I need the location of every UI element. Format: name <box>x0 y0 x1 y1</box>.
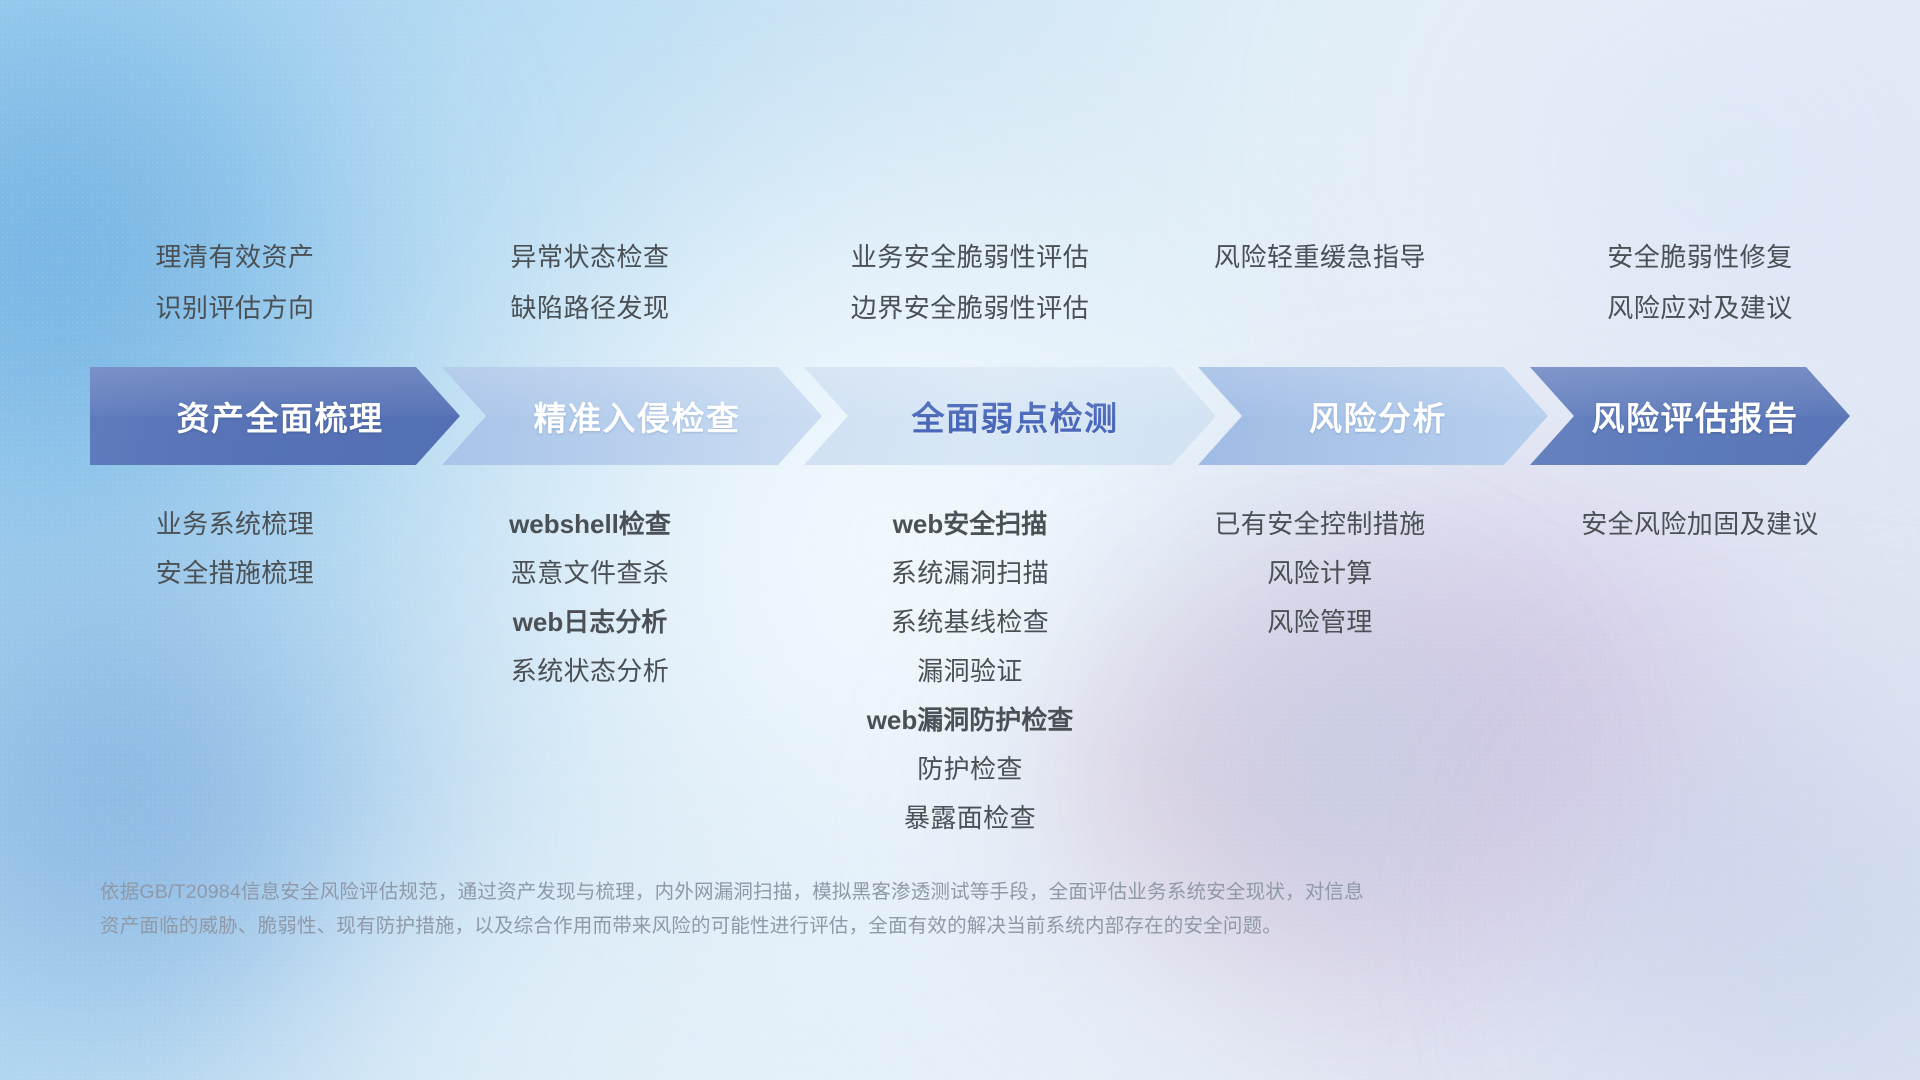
process-diagram: 理清有效资产 识别评估方向 异常状态检查 缺陷路径发现 业务安全脆弱性评估 边界… <box>0 0 1920 1080</box>
chevron-stage-asset-inventory[interactable]: 资产全面梳理 <box>90 367 460 465</box>
stage-inputs-risk-report: 安全脆弱性修复 风险应对及建议 <box>1505 232 1895 334</box>
stage-inputs-weakness-detection: 业务安全脆弱性评估 边界安全脆弱性评估 <box>775 232 1165 334</box>
chevron-label: 资产全面梳理 <box>90 392 460 440</box>
stage-activities-risk-analysis: 已有安全控制措施 风险计算 风险管理 <box>1125 500 1515 647</box>
chevron-stage-risk-report[interactable]: 风险评估报告 <box>1530 367 1850 465</box>
activity-item: 业务系统梳理 <box>70 500 400 549</box>
activity-item: 已有安全控制措施 <box>1125 500 1515 549</box>
stage-inputs-intrusion-check: 异常状态检查 缺陷路径发现 <box>425 232 755 334</box>
activity-item: 安全措施梳理 <box>70 549 400 598</box>
activity-item: 恶意文件查杀 <box>425 549 755 598</box>
activity-item: 系统漏洞扫描 <box>775 549 1165 598</box>
stage-activities-risk-report: 安全风险加固及建议 <box>1505 500 1895 549</box>
activity-item: 系统状态分析 <box>425 647 755 696</box>
activity-item: 漏洞验证 <box>775 647 1165 696</box>
stage-input-line: 风险轻重缓急指导 <box>1125 232 1515 283</box>
process-chevron-bar: 资产全面梳理 精准入侵检查 全面弱点检测 风险分析 风险评估报告 <box>90 367 1850 465</box>
stage-input-line: 安全脆弱性修复 <box>1505 232 1895 283</box>
activity-item: 安全风险加固及建议 <box>1505 500 1895 549</box>
activity-item: web日志分析 <box>425 598 755 647</box>
activity-item: 系统基线检查 <box>775 598 1165 647</box>
stage-input-line: 风险应对及建议 <box>1505 283 1895 334</box>
activity-item: webshell检查 <box>425 500 755 549</box>
activity-item: 防护检查 <box>775 745 1165 794</box>
stage-inputs-row: 理清有效资产 识别评估方向 异常状态检查 缺陷路径发现 业务安全脆弱性评估 边界… <box>0 232 1920 342</box>
chevron-label: 全面弱点检测 <box>804 392 1216 440</box>
activity-item: 暴露面检查 <box>775 794 1165 843</box>
chevron-label: 精准入侵检查 <box>442 392 822 440</box>
chevron-stage-weakness-detection[interactable]: 全面弱点检测 <box>804 367 1216 465</box>
chevron-label: 风险评估报告 <box>1530 392 1850 440</box>
chevron-label: 风险分析 <box>1198 392 1548 440</box>
footer-line-1: 依据GB/T20984信息安全风险评估规范，通过资产发现与梳理，内外网漏洞扫描，… <box>100 875 1780 909</box>
stage-input-line: 业务安全脆弱性评估 <box>775 232 1165 283</box>
stage-activities-intrusion-check: webshell检查 恶意文件查杀 web日志分析 系统状态分析 <box>425 500 755 696</box>
stage-input-line: 理清有效资产 <box>70 232 400 283</box>
chevron-stage-intrusion-check[interactable]: 精准入侵检查 <box>442 367 822 465</box>
activity-item: 风险计算 <box>1125 549 1515 598</box>
footer-description: 依据GB/T20984信息安全风险评估规范，通过资产发现与梳理，内外网漏洞扫描，… <box>100 875 1780 943</box>
stage-input-line: 识别评估方向 <box>70 283 400 334</box>
stage-input-line: 异常状态检查 <box>425 232 755 283</box>
activity-item: 风险管理 <box>1125 598 1515 647</box>
stage-activities-weakness-detection: web安全扫描 系统漏洞扫描 系统基线检查 漏洞验证 web漏洞防护检查 防护检… <box>775 500 1165 843</box>
stage-activities-row: 业务系统梳理 安全措施梳理 webshell检查 恶意文件查杀 web日志分析 … <box>0 500 1920 860</box>
chevron-stage-risk-analysis[interactable]: 风险分析 <box>1198 367 1548 465</box>
stage-input-line: 缺陷路径发现 <box>425 283 755 334</box>
activity-item: web漏洞防护检查 <box>775 696 1165 745</box>
footer-line-2: 资产面临的威胁、脆弱性、现有防护措施，以及综合作用而带来风险的可能性进行评估，全… <box>100 909 1780 943</box>
stage-inputs-risk-analysis: 风险轻重缓急指导 <box>1125 232 1515 283</box>
stage-input-line: 边界安全脆弱性评估 <box>775 283 1165 334</box>
stage-inputs-asset-inventory: 理清有效资产 识别评估方向 <box>70 232 400 334</box>
stage-activities-asset-inventory: 业务系统梳理 安全措施梳理 <box>70 500 400 598</box>
activity-item: web安全扫描 <box>775 500 1165 549</box>
